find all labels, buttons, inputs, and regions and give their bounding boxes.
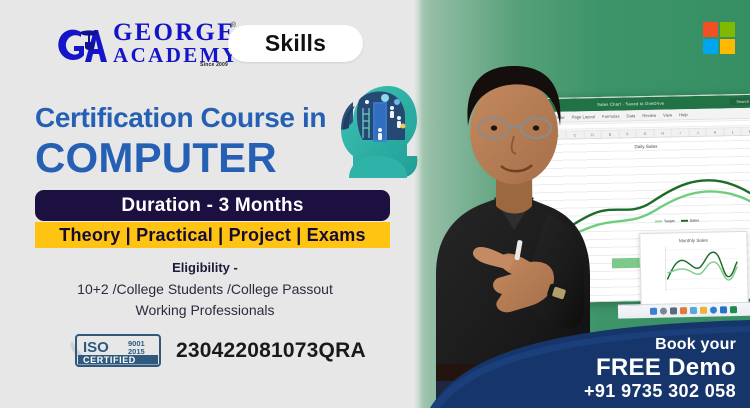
ribbon-tab-review[interactable]: Review: [642, 112, 656, 117]
headline-line1: Certification Course in: [35, 102, 326, 134]
ribbon-tab-help[interactable]: Help: [679, 112, 688, 117]
col-g[interactable]: G: [637, 130, 655, 137]
skills-pill-button[interactable]: Skills: [228, 25, 363, 62]
legend-label-sales: Sales: [690, 219, 699, 223]
cta-phone-number[interactable]: +91 9735 302 058: [584, 382, 736, 401]
certification-row: ISO 9001 2015 CERTIFIED 230422081073QRA: [70, 333, 366, 368]
eligibility-title: Eligibility -: [0, 260, 410, 275]
taskbar-search-icon[interactable]: [659, 308, 666, 315]
ms-square-red: [703, 22, 718, 37]
certification-number: 230422081073QRA: [176, 339, 366, 363]
iso-word: ISO: [83, 339, 109, 356]
human-head-technology-illustration: [333, 78, 419, 183]
col-j[interactable]: J: [689, 129, 707, 136]
legend-item-sales: Sales: [681, 219, 699, 223]
brand-logo[interactable]: GEORGE ACADEMY ® Since 2009: [55, 20, 230, 72]
headline-line2: COMPUTER: [35, 134, 277, 182]
taskbar-taskview-icon[interactable]: [669, 307, 676, 314]
legend-item-target: Target: [655, 219, 675, 223]
topics-banner: Theory | Practical | Project | Exams: [35, 222, 390, 248]
excel-search-box[interactable]: Search: [730, 98, 750, 106]
col-h[interactable]: H: [654, 129, 672, 136]
ms-square-green: [720, 22, 735, 37]
taskbar-excel-icon[interactable]: [729, 306, 736, 313]
eligibility-line1: 10+2 /College Students /College Passout: [0, 281, 410, 297]
cta-text-block: Book your FREE Demo +91 9735 302 058: [584, 337, 736, 401]
topics-label: Theory | Practical | Project | Exams: [59, 225, 365, 246]
col-m[interactable]: M: [742, 128, 750, 135]
duration-label: Duration - 3 Months: [121, 195, 303, 217]
col-f[interactable]: F: [619, 130, 637, 137]
promo-banner: Sales Chart - Saved to OneDrive Search I…: [0, 0, 750, 408]
ga-monogram-icon: [55, 24, 115, 68]
iso-certified-word: CERTIFIED: [83, 355, 136, 365]
brand-since-label: Since 2009: [200, 62, 228, 68]
legend-label-target: Target: [664, 219, 675, 223]
monthly-sales-chart-panel: Monthly Sales: [639, 231, 749, 309]
brand-name-line1: GEORGE: [113, 22, 239, 44]
cta-line-free-demo: FREE Demo: [584, 355, 736, 380]
taskbar-word-icon[interactable]: [719, 306, 726, 313]
iso-certified-badge-icon: ISO 9001 2015 CERTIFIED: [70, 333, 162, 368]
microsoft-logo-icon: [703, 22, 735, 54]
ms-square-blue: [703, 39, 718, 54]
eligibility-line2: Working Professionals: [0, 302, 410, 318]
brand-logo-text: GEORGE ACADEMY: [113, 22, 239, 66]
col-l[interactable]: L: [724, 128, 742, 135]
taskbar-edge-icon[interactable]: [709, 307, 716, 314]
ribbon-tab-view[interactable]: View: [663, 112, 672, 117]
ribbon-tab-data[interactable]: Data: [626, 113, 635, 118]
col-i[interactable]: I: [672, 129, 690, 136]
taskbar-folder-icon[interactable]: [699, 307, 706, 314]
taskbar-start-icon[interactable]: [649, 308, 656, 315]
skills-pill-label: Skills: [265, 30, 326, 57]
col-k[interactable]: K: [707, 128, 725, 135]
taskbar-widgets-icon[interactable]: [679, 307, 686, 314]
duration-banner: Duration - 3 Months: [35, 190, 390, 221]
cta-line-book-your: Book your: [584, 337, 736, 354]
taskbar-explorer-icon[interactable]: [689, 307, 696, 314]
monthly-sales-line-chart: [640, 242, 748, 306]
ms-square-yellow: [720, 39, 735, 54]
cta-banner: Book your FREE Demo +91 9735 302 058: [430, 316, 750, 408]
